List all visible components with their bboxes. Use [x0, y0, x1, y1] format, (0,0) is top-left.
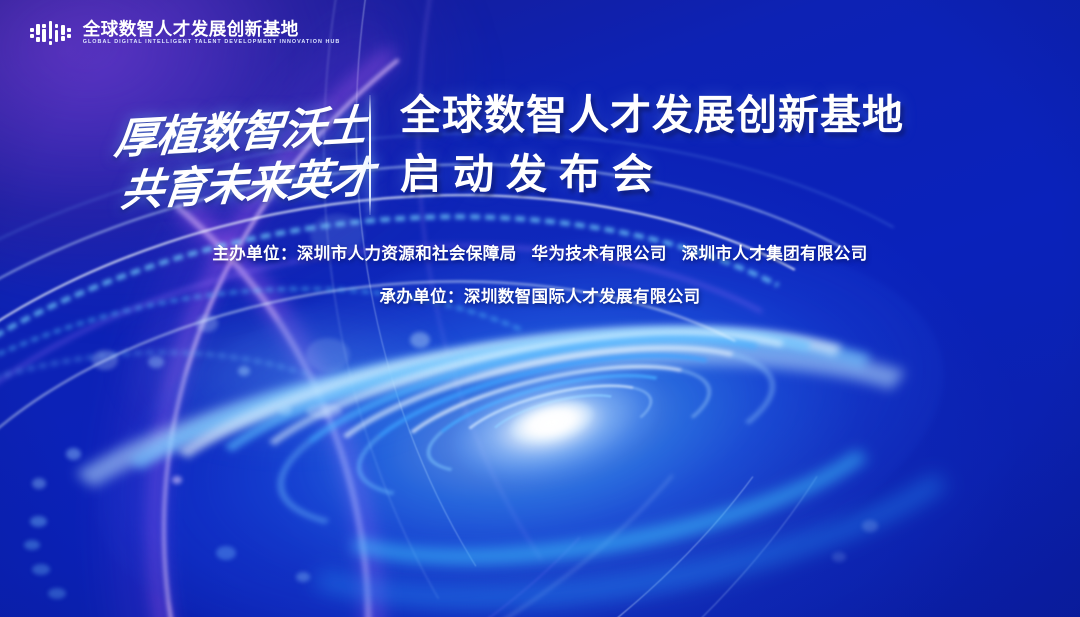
logo-bar-column — [67, 28, 71, 38]
bokeh-dot — [862, 520, 878, 532]
brand-logo[interactable]: 全球数智人才发展创新基地 GLOBAL DIGITAL INTELLIGENT … — [30, 20, 340, 46]
bokeh-dot — [296, 572, 310, 582]
slogan-line-2: 共育未来英才 — [118, 143, 375, 219]
bokeh-dot — [66, 448, 81, 460]
logo-bar-column — [30, 28, 34, 38]
logo-bar-column — [42, 24, 46, 43]
bokeh-dot — [32, 564, 50, 575]
main-title-line-2: 启动发布会 — [400, 148, 904, 200]
equalizer-bars-logo-icon — [30, 20, 71, 46]
bokeh-dot — [832, 552, 846, 562]
host-organizers-line: 主办单位：深圳市人力资源和社会保障局 华为技术有限公司 深圳市人才集团有限公司 — [0, 246, 1080, 263]
co-host-organizer-line: 承办单位：深圳数智国际人才发展有限公司 — [0, 289, 1080, 306]
logo-text-block: 全球数智人才发展创新基地 GLOBAL DIGITAL INTELLIGENT … — [83, 21, 341, 46]
bokeh-dot — [92, 350, 118, 370]
event-banner-stage: 全球数智人才发展创新基地 GLOBAL DIGITAL INTELLIGENT … — [0, 0, 1080, 617]
bokeh-dot — [172, 476, 182, 484]
bokeh-dot — [216, 546, 236, 560]
bokeh-dot — [32, 478, 46, 489]
bokeh-dot — [48, 588, 66, 599]
logo-bar-column — [61, 25, 65, 42]
calligraphy-slogan: 厚植数智沃土 共育未来英才 — [108, 92, 358, 216]
main-title-line-1: 全球数智人才发展创新基地 — [400, 90, 904, 140]
logo-bar-column — [49, 21, 53, 45]
logo-title-cn: 全球数智人才发展创新基地 — [83, 21, 341, 39]
page-title: 全球数智人才发展创新基地 启动发布会 — [400, 90, 904, 200]
logo-title-en: GLOBAL DIGITAL INTELLIGENT TALENT DEVELO… — [83, 40, 341, 46]
logo-bar-column — [55, 24, 59, 42]
slogan-backlight — [120, 300, 460, 450]
vertical-divider — [369, 95, 371, 215]
logo-bar-column — [36, 24, 40, 42]
organizers-block: 主办单位：深圳市人力资源和社会保障局 华为技术有限公司 深圳市人才集团有限公司 … — [0, 246, 1080, 305]
bokeh-dot — [30, 516, 47, 527]
bokeh-dot — [24, 540, 40, 550]
